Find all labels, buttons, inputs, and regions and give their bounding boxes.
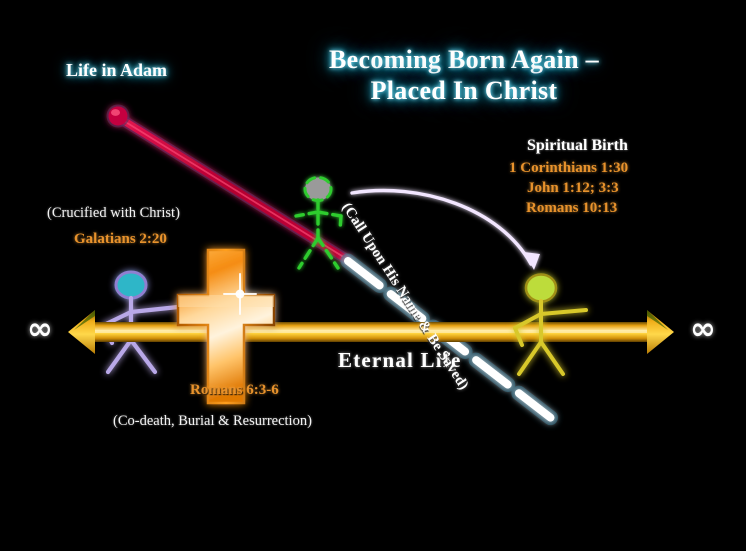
galatians-reference: Galatians 2:20 xyxy=(74,231,167,248)
spiritual-birth-ref-2: John 1:12; 3:3 xyxy=(527,180,619,197)
infinity-right-icon: ∞ xyxy=(690,312,716,348)
page-title-line2: Placed In Christ xyxy=(314,76,614,106)
diagram-canvas: Becoming Born Again – Placed In Christ L… xyxy=(0,0,746,551)
codeath-note: (Co-death, Burial & Resurrection) xyxy=(113,413,312,430)
spiritual-birth-ref-1: 1 Corinthians 1:30 xyxy=(509,160,628,177)
romans-reference: Romans 6:3-6 xyxy=(190,382,279,399)
spiritual-birth-heading: Spiritual Birth xyxy=(527,137,628,155)
spiritual-birth-ref-3: Romans 10:13 xyxy=(526,200,617,217)
life-in-adam-label: Life in Adam xyxy=(66,60,167,81)
page-title-line1: Becoming Born Again – xyxy=(314,45,614,75)
infinity-left-icon: ∞ xyxy=(27,312,53,348)
crucified-note: (Crucified with Christ) xyxy=(47,205,180,222)
